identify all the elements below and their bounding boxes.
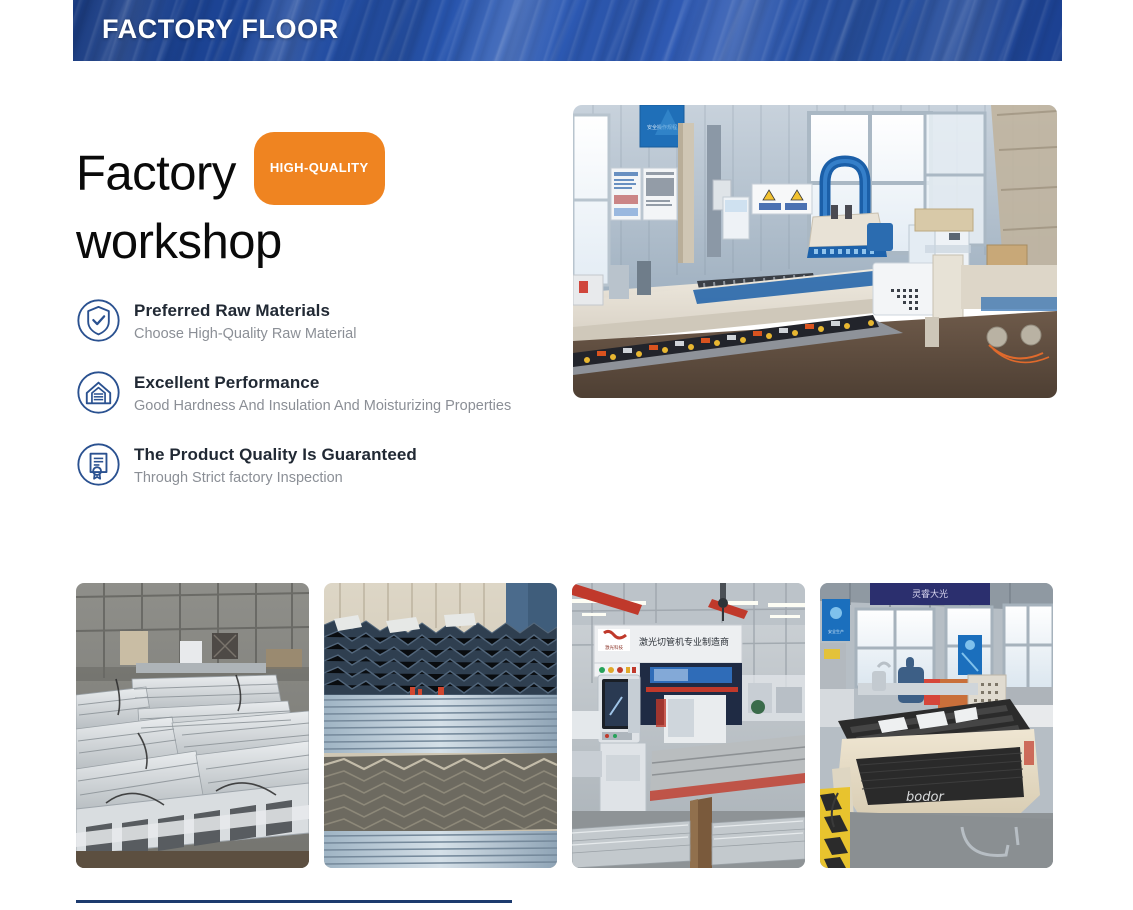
svg-text:激光科技: 激光科技 bbox=[605, 644, 623, 651]
svg-text:激光切管机专业制造商: 激光切管机专业制造商 bbox=[639, 636, 729, 648]
feature-item-quality-guarantee: The Product Quality Is Guaranteed Throug… bbox=[76, 442, 596, 496]
feature-item-raw-materials: Preferred Raw Materials Choose High-Qual… bbox=[76, 298, 596, 352]
feature-text-block: Preferred Raw Materials Choose High-Qual… bbox=[134, 298, 596, 345]
warehouse-icon bbox=[76, 370, 121, 415]
svg-text:灵睿大光: 灵睿大光 bbox=[912, 588, 948, 600]
feature-list: Preferred Raw Materials Choose High-Qual… bbox=[76, 298, 596, 496]
svg-text:bodor: bodor bbox=[906, 790, 945, 805]
factory-photo-gallery: 激光科技 激光切管机专业制造商 bbox=[76, 583, 1055, 868]
factory-floor-page: FACTORY FLOOR FactoryHIGH-QUALITY worksh… bbox=[0, 0, 1133, 910]
feature-text-block: Excellent Performance Good Hardness And … bbox=[134, 370, 596, 417]
shield-check-icon bbox=[76, 298, 121, 343]
heading-block: FactoryHIGH-QUALITY workshop bbox=[76, 140, 546, 271]
feature-subtitle: Choose High-Quality Raw Material bbox=[134, 323, 596, 345]
high-quality-badge: HIGH-QUALITY bbox=[254, 132, 385, 205]
feature-title: The Product Quality Is Guaranteed bbox=[134, 443, 596, 466]
feature-item-performance: Excellent Performance Good Hardness And … bbox=[76, 370, 596, 424]
feature-subtitle: Through Strict factory Inspection bbox=[134, 467, 596, 489]
banner-title: FACTORY FLOOR bbox=[102, 14, 339, 45]
cnc-laser-cutting-machine-photo: 安全操作规程 bbox=[573, 105, 1057, 398]
bodor-fiber-laser-machine-photo: 灵睿大光 bbox=[820, 583, 1053, 868]
laser-tube-cutting-machine-photo: 激光科技 激光切管机专业制造商 bbox=[572, 583, 805, 868]
feature-title: Excellent Performance bbox=[134, 371, 596, 394]
galvanized-steel-profiles-photo bbox=[76, 583, 309, 868]
feature-text-block: The Product Quality Is Guaranteed Throug… bbox=[134, 442, 596, 489]
stacked-corrugated-steel-sheets-photo bbox=[324, 583, 557, 868]
page-title-line-1: FactoryHIGH-QUALITY bbox=[76, 140, 546, 213]
certificate-icon bbox=[76, 442, 121, 487]
page-title-line-2: workshop bbox=[76, 213, 546, 271]
page-title-text: Factory bbox=[76, 146, 236, 200]
section-divider-rule bbox=[76, 900, 512, 903]
svg-text:安全生产: 安全生产 bbox=[828, 628, 844, 634]
feature-title: Preferred Raw Materials bbox=[134, 299, 596, 322]
section-banner: FACTORY FLOOR bbox=[73, 0, 1062, 61]
feature-subtitle: Good Hardness And Insulation And Moistur… bbox=[134, 395, 596, 417]
